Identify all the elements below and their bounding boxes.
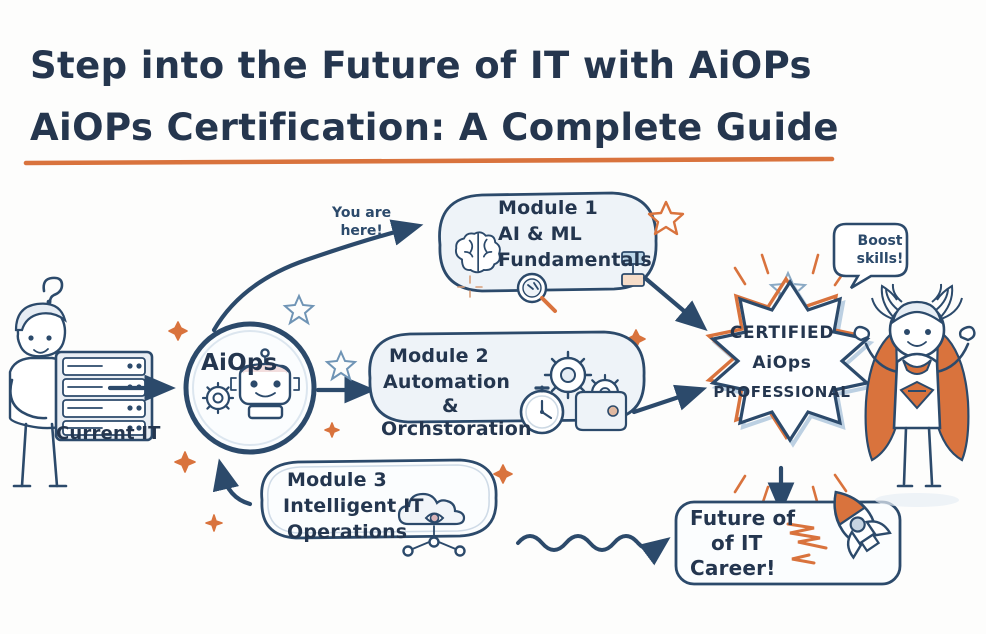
module-1-line-3: Fundamentals [498,250,652,271]
star-decor-2 [285,296,313,323]
module-1-line-2: AI & ML [498,224,582,245]
sparkle-decor-2 [169,322,187,340]
edge-module-3-to-future [518,536,660,550]
module-3-title: Module 3 [287,470,387,491]
badge-line-3: PROFESSIONAL [712,384,852,401]
person-current-it [10,278,152,486]
label-current-it: Current IT [56,424,161,444]
brain-icon [456,232,500,272]
star-decor-3 [327,352,355,379]
superhero-character [855,284,975,507]
sparkle-decor-7 [325,423,339,437]
diagram-artwork: .s{fill:none;stroke:#2c4a6b;stroke-width… [0,0,986,634]
gear-icon [203,383,233,413]
sparkle-decor-3 [175,452,195,472]
infographic-canvas: Step into the Future of IT with AiOPs Ai… [0,0,986,634]
future-line-3: Career! [690,557,776,579]
annotation-you-are-here: You are here! [332,205,391,240]
module-2-title: Module 2 [389,346,489,367]
edge-module-3-to-hub [222,472,250,504]
edge-module-1-to-badge [645,278,697,322]
server-icon [576,392,626,430]
module-3-line-2: Intelligent IT [283,496,424,517]
module-1-title: Module 1 [498,198,598,219]
future-line-2: of IT [711,532,763,554]
aiops-hub [186,324,314,452]
badge-line-2: AiOps [718,354,846,373]
module-2-line-3: & [442,396,459,417]
label-aiops-hub: AiOps [201,351,277,377]
sparkle-decor-5 [206,515,222,531]
module-2-line-4: Orchstoration [381,419,532,440]
sparkle-decor-6 [494,465,512,483]
certified-badge [709,255,870,505]
badge-line-1: CERTIFIED [718,324,846,343]
title-underline [26,159,832,163]
module-2-line-2: Automation [383,372,510,393]
annotation-boost-skills: Boost skills! [852,233,908,268]
edge-hub-to-module-1 [214,228,410,330]
future-line-1: Future of [690,507,795,529]
module-3-line-3: Operations [287,522,407,543]
